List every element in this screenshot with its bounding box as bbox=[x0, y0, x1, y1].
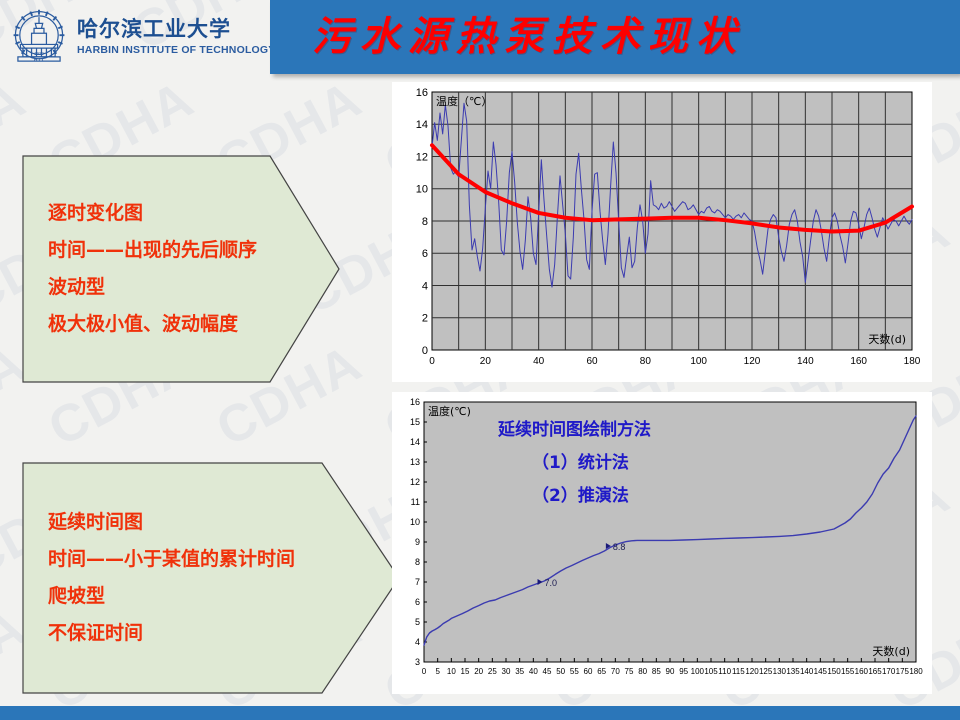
y-axis-label: 温度（℃） bbox=[436, 94, 492, 108]
callout-line: 波动型 bbox=[48, 269, 257, 306]
x-tick-label: 20 bbox=[474, 667, 483, 676]
y-tick-label: 7 bbox=[415, 577, 420, 587]
university-logo: 1920 H I T 哈尔滨工业大学 HARBIN INSTITUTE OF T… bbox=[8, 6, 276, 68]
slide-title: 污水源热泵技术现状 bbox=[312, 6, 744, 68]
x-tick-label: 80 bbox=[638, 667, 647, 676]
x-tick-label: 70 bbox=[611, 667, 620, 676]
x-tick-label: 30 bbox=[502, 667, 511, 676]
x-axis-label: 天数(d) bbox=[872, 645, 910, 658]
title-banner: 污水源热泵技术现状 bbox=[270, 0, 960, 74]
callout-line: 爬坡型 bbox=[48, 578, 295, 615]
y-tick-label: 4 bbox=[415, 637, 420, 647]
x-tick-label: 55 bbox=[570, 667, 579, 676]
university-name-cn: 哈尔滨工业大学 bbox=[77, 18, 276, 41]
x-tick-label: 150 bbox=[827, 667, 841, 676]
annotation-label: 8.8 bbox=[613, 542, 626, 552]
slide-header: 1920 H I T 哈尔滨工业大学 HARBIN INSTITUTE OF T… bbox=[0, 0, 960, 78]
x-tick-label: 175 bbox=[896, 667, 910, 676]
x-tick-label: 0 bbox=[429, 356, 435, 367]
x-tick-label: 90 bbox=[666, 667, 675, 676]
y-tick-label: 11 bbox=[411, 497, 420, 507]
note-line: （2）推演法 bbox=[498, 480, 651, 513]
x-tick-label: 35 bbox=[515, 667, 524, 676]
y-tick-label: 4 bbox=[422, 280, 428, 292]
note-line: （1）统计法 bbox=[498, 447, 651, 480]
callout-duration-text: 延续时间图 时间——小于某值的累计时间 爬坡型 不保证时间 bbox=[48, 462, 295, 694]
x-tick-label: 145 bbox=[814, 667, 828, 676]
x-tick-label: 80 bbox=[640, 356, 652, 367]
x-tick-label: 155 bbox=[841, 667, 855, 676]
x-tick-label: 125 bbox=[759, 667, 773, 676]
x-tick-label: 60 bbox=[584, 667, 593, 676]
y-tick-label: 14 bbox=[410, 437, 420, 447]
callout-line: 时间——小于某值的累计时间 bbox=[48, 541, 295, 578]
y-tick-label: 6 bbox=[415, 597, 420, 607]
note-line: 延续时间图绘制方法 bbox=[498, 414, 651, 447]
y-tick-label: 16 bbox=[416, 87, 428, 99]
callout-line: 不保证时间 bbox=[48, 615, 295, 652]
x-tick-label: 100 bbox=[691, 667, 705, 676]
x-tick-label: 100 bbox=[690, 356, 707, 367]
callout-line: 极大极小值、波动幅度 bbox=[48, 306, 257, 343]
y-tick-label: 16 bbox=[410, 397, 420, 407]
y-axis-label: 温度(℃) bbox=[428, 404, 471, 418]
duration-curve-chart: 3456789101112131415160510152025303540455… bbox=[392, 392, 932, 694]
x-tick-label: 20 bbox=[480, 356, 492, 367]
x-tick-label: 65 bbox=[597, 667, 606, 676]
crest-initials: H I T bbox=[34, 57, 44, 62]
y-tick-label: 3 bbox=[415, 657, 420, 667]
hit-crest-icon: 1920 H I T bbox=[8, 6, 70, 68]
duration-curve-plot: 3456789101112131415160510152025303540455… bbox=[392, 392, 932, 694]
x-tick-label: 25 bbox=[488, 667, 497, 676]
x-tick-label: 140 bbox=[800, 667, 814, 676]
x-tick-label: 40 bbox=[533, 356, 545, 367]
x-tick-label: 50 bbox=[556, 667, 565, 676]
x-tick-label: 15 bbox=[461, 667, 470, 676]
x-tick-label: 165 bbox=[868, 667, 882, 676]
x-tick-label: 120 bbox=[744, 356, 761, 367]
callout-line: 时间——出现的先后顺序 bbox=[48, 232, 257, 269]
x-tick-label: 40 bbox=[529, 667, 538, 676]
x-axis-label: 天数(d) bbox=[868, 333, 906, 346]
x-tick-label: 180 bbox=[904, 356, 921, 367]
callout-line: 逐时变化图 bbox=[48, 195, 257, 232]
callout-duration-curve: 延续时间图 时间——小于某值的累计时间 爬坡型 不保证时间 bbox=[22, 462, 400, 694]
crest-year: 1920 bbox=[34, 51, 44, 56]
callout-hourly-variation: 逐时变化图 时间——出现的先后顺序 波动型 极大极小值、波动幅度 bbox=[22, 155, 340, 383]
x-tick-label: 115 bbox=[732, 667, 745, 676]
callout-hourly-text: 逐时变化图 时间——出现的先后顺序 波动型 极大极小值、波动幅度 bbox=[48, 155, 257, 383]
x-tick-label: 45 bbox=[543, 667, 552, 676]
x-tick-label: 110 bbox=[718, 667, 731, 676]
y-tick-label: 9 bbox=[415, 537, 420, 547]
x-tick-label: 95 bbox=[679, 667, 688, 676]
y-tick-label: 0 bbox=[422, 345, 428, 357]
y-tick-label: 8 bbox=[422, 216, 428, 228]
footer-strip bbox=[0, 706, 960, 720]
x-tick-label: 170 bbox=[882, 667, 896, 676]
x-tick-label: 160 bbox=[855, 667, 869, 676]
hourly-variation-plot: 0246810121416020406080100120140160180温度（… bbox=[392, 82, 932, 382]
x-tick-label: 140 bbox=[797, 356, 814, 367]
annotation-label: 7.0 bbox=[545, 578, 558, 588]
x-tick-label: 5 bbox=[435, 667, 440, 676]
x-tick-label: 130 bbox=[773, 667, 787, 676]
university-name-en: HARBIN INSTITUTE OF TECHNOLOGY bbox=[77, 44, 276, 56]
x-tick-label: 105 bbox=[704, 667, 718, 676]
x-tick-label: 160 bbox=[850, 356, 867, 367]
duration-method-note: 延续时间图绘制方法 （1）统计法 （2）推演法 bbox=[498, 414, 651, 513]
y-tick-label: 8 bbox=[415, 557, 420, 567]
logo-text-block: 哈尔滨工业大学 HARBIN INSTITUTE OF TECHNOLOGY bbox=[77, 18, 276, 55]
callout-line: 延续时间图 bbox=[48, 504, 295, 541]
y-tick-label: 12 bbox=[416, 151, 428, 163]
y-tick-label: 5 bbox=[415, 617, 420, 627]
x-tick-label: 60 bbox=[586, 356, 598, 367]
y-tick-label: 10 bbox=[416, 184, 428, 196]
x-tick-label: 75 bbox=[625, 667, 634, 676]
x-tick-label: 85 bbox=[652, 667, 661, 676]
x-tick-label: 135 bbox=[786, 667, 800, 676]
x-tick-label: 0 bbox=[422, 667, 427, 676]
x-tick-label: 10 bbox=[447, 667, 456, 676]
y-tick-label: 6 bbox=[422, 248, 428, 260]
y-tick-label: 15 bbox=[410, 417, 420, 427]
y-tick-label: 10 bbox=[410, 517, 420, 527]
x-tick-label: 180 bbox=[909, 667, 923, 676]
y-tick-label: 13 bbox=[410, 457, 420, 467]
y-tick-label: 2 bbox=[422, 313, 428, 325]
y-tick-label: 12 bbox=[410, 477, 420, 487]
hourly-variation-chart: 0246810121416020406080100120140160180温度（… bbox=[392, 82, 932, 382]
y-tick-label: 14 bbox=[416, 119, 428, 131]
x-tick-label: 120 bbox=[745, 667, 759, 676]
